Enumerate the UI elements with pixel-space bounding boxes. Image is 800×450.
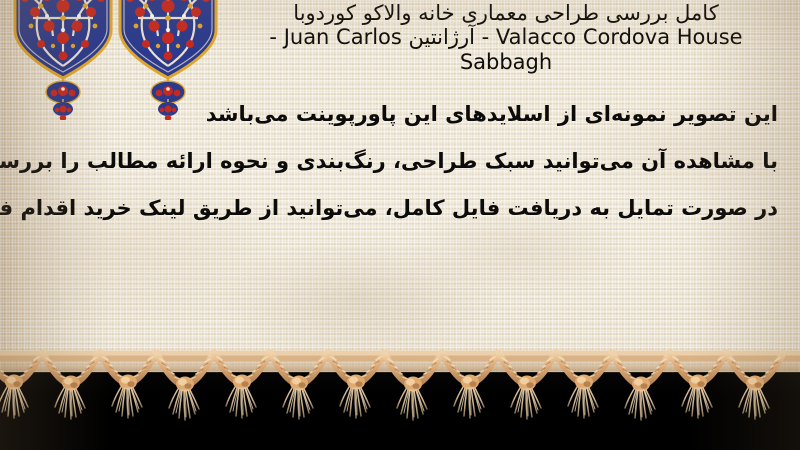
powerpoint-slide-preview: کامل بررسی طراحی معماری خانه والاکو کورد… — [0, 0, 800, 450]
slide-title: کامل بررسی طراحی معماری خانه والاکو کورد… — [230, 1, 782, 74]
slide-body-text: این تصویر نمونه‌ای از اسلایدهای این پاور… — [16, 104, 778, 219]
carpet-fringe-tassels-icon — [0, 350, 800, 450]
persian-carpet-medallion-icon-right — [118, 0, 218, 120]
body-line-2: با مشاهده آن می‌توانید سبک طراحی، رنگ‌بن… — [16, 151, 778, 172]
title-line-3: Sabbagh — [230, 50, 782, 74]
title-line-2: Valacco Cordova House - آرژانتین Juan Ca… — [230, 25, 782, 49]
persian-carpet-medallion-icon-left — [13, 0, 113, 120]
title-line-1: کامل بررسی طراحی معماری خانه والاکو کورد… — [230, 1, 782, 25]
body-line-1: این تصویر نمونه‌ای از اسلایدهای این پاور… — [16, 104, 778, 125]
body-line-3: در صورت تمایل به دریافت فایل کامل، می‌تو… — [16, 198, 778, 219]
